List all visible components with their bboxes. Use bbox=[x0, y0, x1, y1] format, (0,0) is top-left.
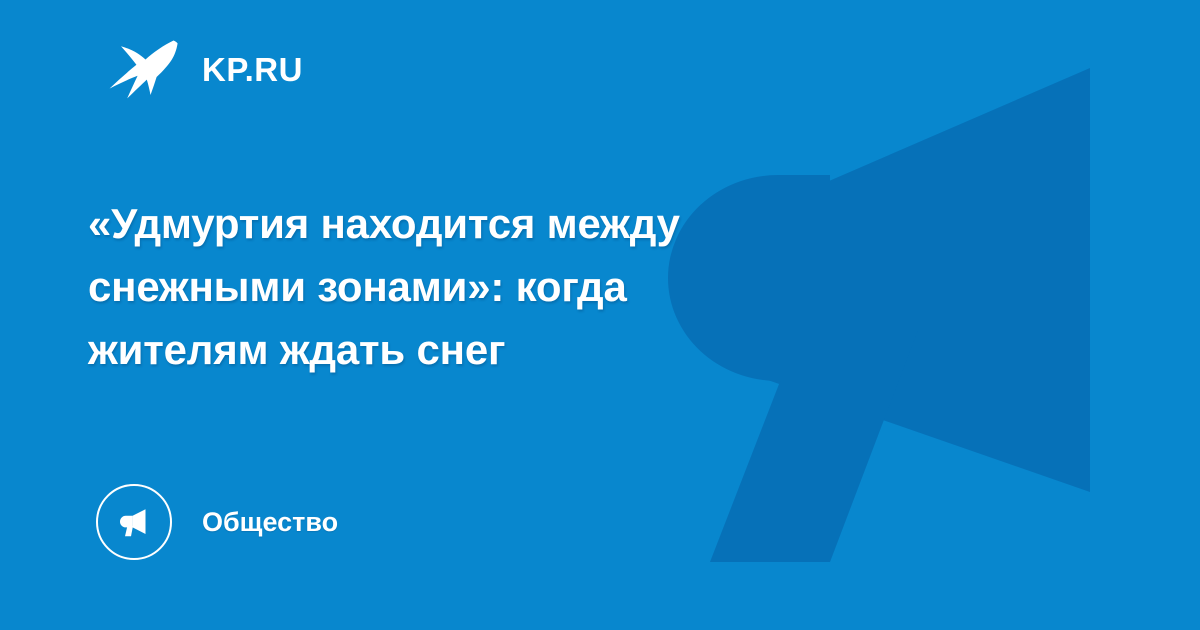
brand-name: KP.RU bbox=[202, 53, 303, 86]
category-label: Общество bbox=[202, 509, 338, 536]
megaphone-icon bbox=[114, 502, 154, 542]
page-title: «Удмуртия находится между снежными зонам… bbox=[88, 192, 988, 381]
category-badge[interactable]: Общество bbox=[96, 484, 338, 560]
category-icon-circle bbox=[96, 484, 172, 560]
title-line-2: снежными зонами»: когда bbox=[88, 255, 988, 318]
brand-header: KP.RU bbox=[106, 38, 303, 100]
title-line-3: жителям ждать снег bbox=[88, 318, 988, 381]
swallow-bird-icon bbox=[106, 38, 180, 100]
social-share-card: KP.RU «Удмуртия находится между снежными… bbox=[0, 0, 1200, 630]
title-line-1: «Удмуртия находится между bbox=[88, 192, 988, 255]
